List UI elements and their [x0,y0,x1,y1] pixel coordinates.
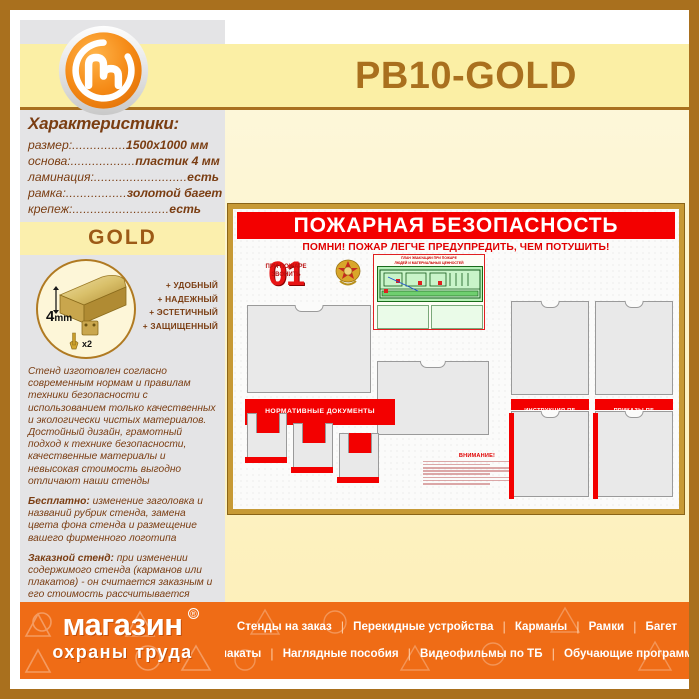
spec-dots: .......................... [94,170,187,184]
pocket-label-instruction: ИНСТРУКЦИЯ ПБ [511,399,589,410]
attention-line [423,483,490,485]
document-pocket[interactable] [511,301,589,395]
specs-list: размер:...............1500x1000 мм основ… [20,137,225,217]
attention-line [423,464,490,466]
spec-dots: .................. [71,154,136,168]
spec-row: размер:...............1500x1000 мм [20,137,225,153]
page-title: PB10-GOLD [355,55,577,98]
nav-link-flip-systems[interactable]: Перекидные устройства [344,620,502,633]
holder-shadow [337,477,379,483]
emergency-number: 01 ПРИ ПОЖАРЕ ЗВОНИТЬ [249,257,323,297]
spec-value: пластик 4 мм [135,154,220,168]
document-pocket-instruction[interactable] [511,411,589,497]
evac-legend [377,305,483,329]
magazin-m-logo-icon [57,24,150,117]
gold-label: GOLD [88,226,157,249]
spec-value: есть [169,202,201,216]
bottom-navigation: Стенды на заказ | Перекидные устройства … [225,602,689,679]
spec-dots: ................. [66,186,127,200]
floor-plan-icon [378,267,484,303]
emergency-caption-line2: ЗВОНИТЬ [249,272,323,280]
bullet-item: + УДОБНЫЙ [143,279,218,293]
leaflet-holder[interactable] [247,413,287,459]
paragraph-lead: Бесплатно: [28,496,90,507]
thickness-unit: mm [54,313,72,324]
shop-logo-line2: охраны труда [20,641,225,663]
spec-dots: ........................... [72,202,169,216]
spec-label: ламинация: [28,170,94,184]
page-root: Характеристики: размер:...............15… [0,0,699,699]
document-pocket-orders[interactable] [595,411,673,497]
evac-heading-line2: ЛЮДЕЙ И МАТЕРИАЛЬНЫХ ЦЕННОСТЕЙ [374,261,484,266]
paragraph: Стенд изготовлен согласно современным но… [28,366,218,488]
nav-separator: | [270,646,273,661]
nav-row-1: Стенды на заказ | Перекидные устройства … [225,613,689,640]
legend-symbols [431,305,483,329]
spec-label: размер: [28,138,72,152]
nav-link-pockets[interactable]: Карманы [506,620,576,633]
evac-floor-plan [377,266,483,302]
evacuation-plan: ПЛАН ЭВАКУАЦИИ ПРИ ПОЖАРЕ ЛЮДЕЙ И МАТЕРИ… [373,254,485,330]
nav-separator: | [552,646,555,661]
pocket-shadow [593,413,598,499]
nav-link-visual-aids[interactable]: Наглядные пособия [274,647,408,660]
nav-separator: | [576,619,579,634]
spec-dots: ............... [72,138,126,152]
spec-row: рамка:.................золотой багет [20,185,225,201]
legend-actions [377,305,429,329]
shop-logo[interactable]: магазин охраны труда ® [20,602,225,679]
emergency-caption: ПРИ ПОЖАРЕ ЗВОНИТЬ [249,264,323,279]
spec-label: рамка: [28,186,66,200]
fire-safety-board[interactable]: ПОЖАРНАЯ БЕЗОПАСНОСТЬ ПОМНИ! ПОЖАР ЛЕГЧЕ… [228,204,684,514]
spec-label: крепеж: [28,202,72,216]
attention-line [423,467,514,469]
nav-separator: | [341,619,344,634]
mchs-emblem-icon [333,257,363,289]
nav-link-custom-stands[interactable]: Стенды на заказ [228,620,341,633]
nav-link-videos[interactable]: Видеофильмы по ТБ [411,647,552,660]
pocket-label-orders: ПРИКАЗЫ ПБ [595,399,673,410]
attention-line [423,477,514,479]
gold-badge: GOLD [20,222,225,255]
feature-bullets: + УДОБНЫЙ + НАДЕЖНЫЙ + ЭСТЕТИЧНЫЙ + ЗАЩИ… [143,279,218,333]
board-title-bar: ПОЖАРНАЯ БЕЗОПАСНОСТЬ [237,212,675,239]
spec-row: крепеж:...........................есть [20,201,225,217]
spec-row: основа:..................пластик 4 мм [20,153,225,169]
bullet-item: + ЭСТЕТИЧНЫЙ [143,306,218,320]
board-title-text: ПОЖАРНАЯ БЕЗОПАСНОСТЬ [294,214,619,237]
document-pocket[interactable] [247,305,371,393]
board-subtitle: ПОМНИ! ПОЖАР ЛЕГЧЕ ПРЕДУПРЕДИТЬ, ЧЕМ ПОТ… [233,242,679,253]
leaflet-holder[interactable] [339,433,379,479]
attention-line [423,473,490,475]
spec-value: золотой багет [127,186,222,200]
spec-value: 1500x1000 мм [126,138,208,152]
leaflet-holder[interactable] [293,423,333,469]
nav-link-posters[interactable]: Плакаты [225,647,270,660]
frame-thickness-label: 4mm [46,309,72,326]
frame-illustration: 4mm x2 + УДОБНЫЙ + НАДЕЖНЫЙ + ЭСТЕТИЧНЫЙ… [20,255,225,363]
nav-separator: | [502,619,505,634]
bullet-item: + ЗАЩИЩЕННЫЙ [143,320,218,334]
fastener-count: x2 [82,339,92,349]
board-inner: ПОЖАРНАЯ БЕЗОПАСНОСТЬ ПОМНИ! ПОЖАР ЛЕГЧЕ… [233,209,679,509]
bullet-item: + НАДЕЖНЫЙ [143,293,218,307]
nav-rows: Стенды на заказ | Перекидные устройства … [225,602,689,667]
sidebar: Характеристики: размер:...............15… [20,20,225,679]
spec-label: основа: [28,154,71,168]
nav-link-training-programs[interactable]: Обучающие программы [555,647,689,660]
nav-link-baguette[interactable]: Багет [637,620,687,633]
paragraph-lead: Заказной стенд: [28,553,114,564]
attention-line [423,461,514,463]
registered-mark: ® [188,608,199,619]
pocket-shadow [509,413,514,499]
spec-value: есть [187,170,219,184]
nav-separator: | [633,619,636,634]
emergency-caption-line1: ПРИ ПОЖАРЕ [249,264,323,272]
spec-row: ламинация:..........................есть [20,169,225,185]
holder-shadow [245,457,287,463]
holder-shadow [291,467,333,473]
document-pocket[interactable] [595,301,673,395]
nav-link-frames[interactable]: Рамки [580,620,634,633]
paragraph: Бесплатно: изменение заголовка и названи… [28,496,218,545]
paragraph-text: Стенд изготовлен согласно современным но… [28,366,216,487]
evac-heading: ПЛАН ЭВАКУАЦИИ ПРИ ПОЖАРЕ ЛЮДЕЙ И МАТЕРИ… [374,255,484,265]
nav-row-2: Плакаты | Наглядные пособия | Видеофильм… [225,640,689,667]
nav-separator: | [408,646,411,661]
